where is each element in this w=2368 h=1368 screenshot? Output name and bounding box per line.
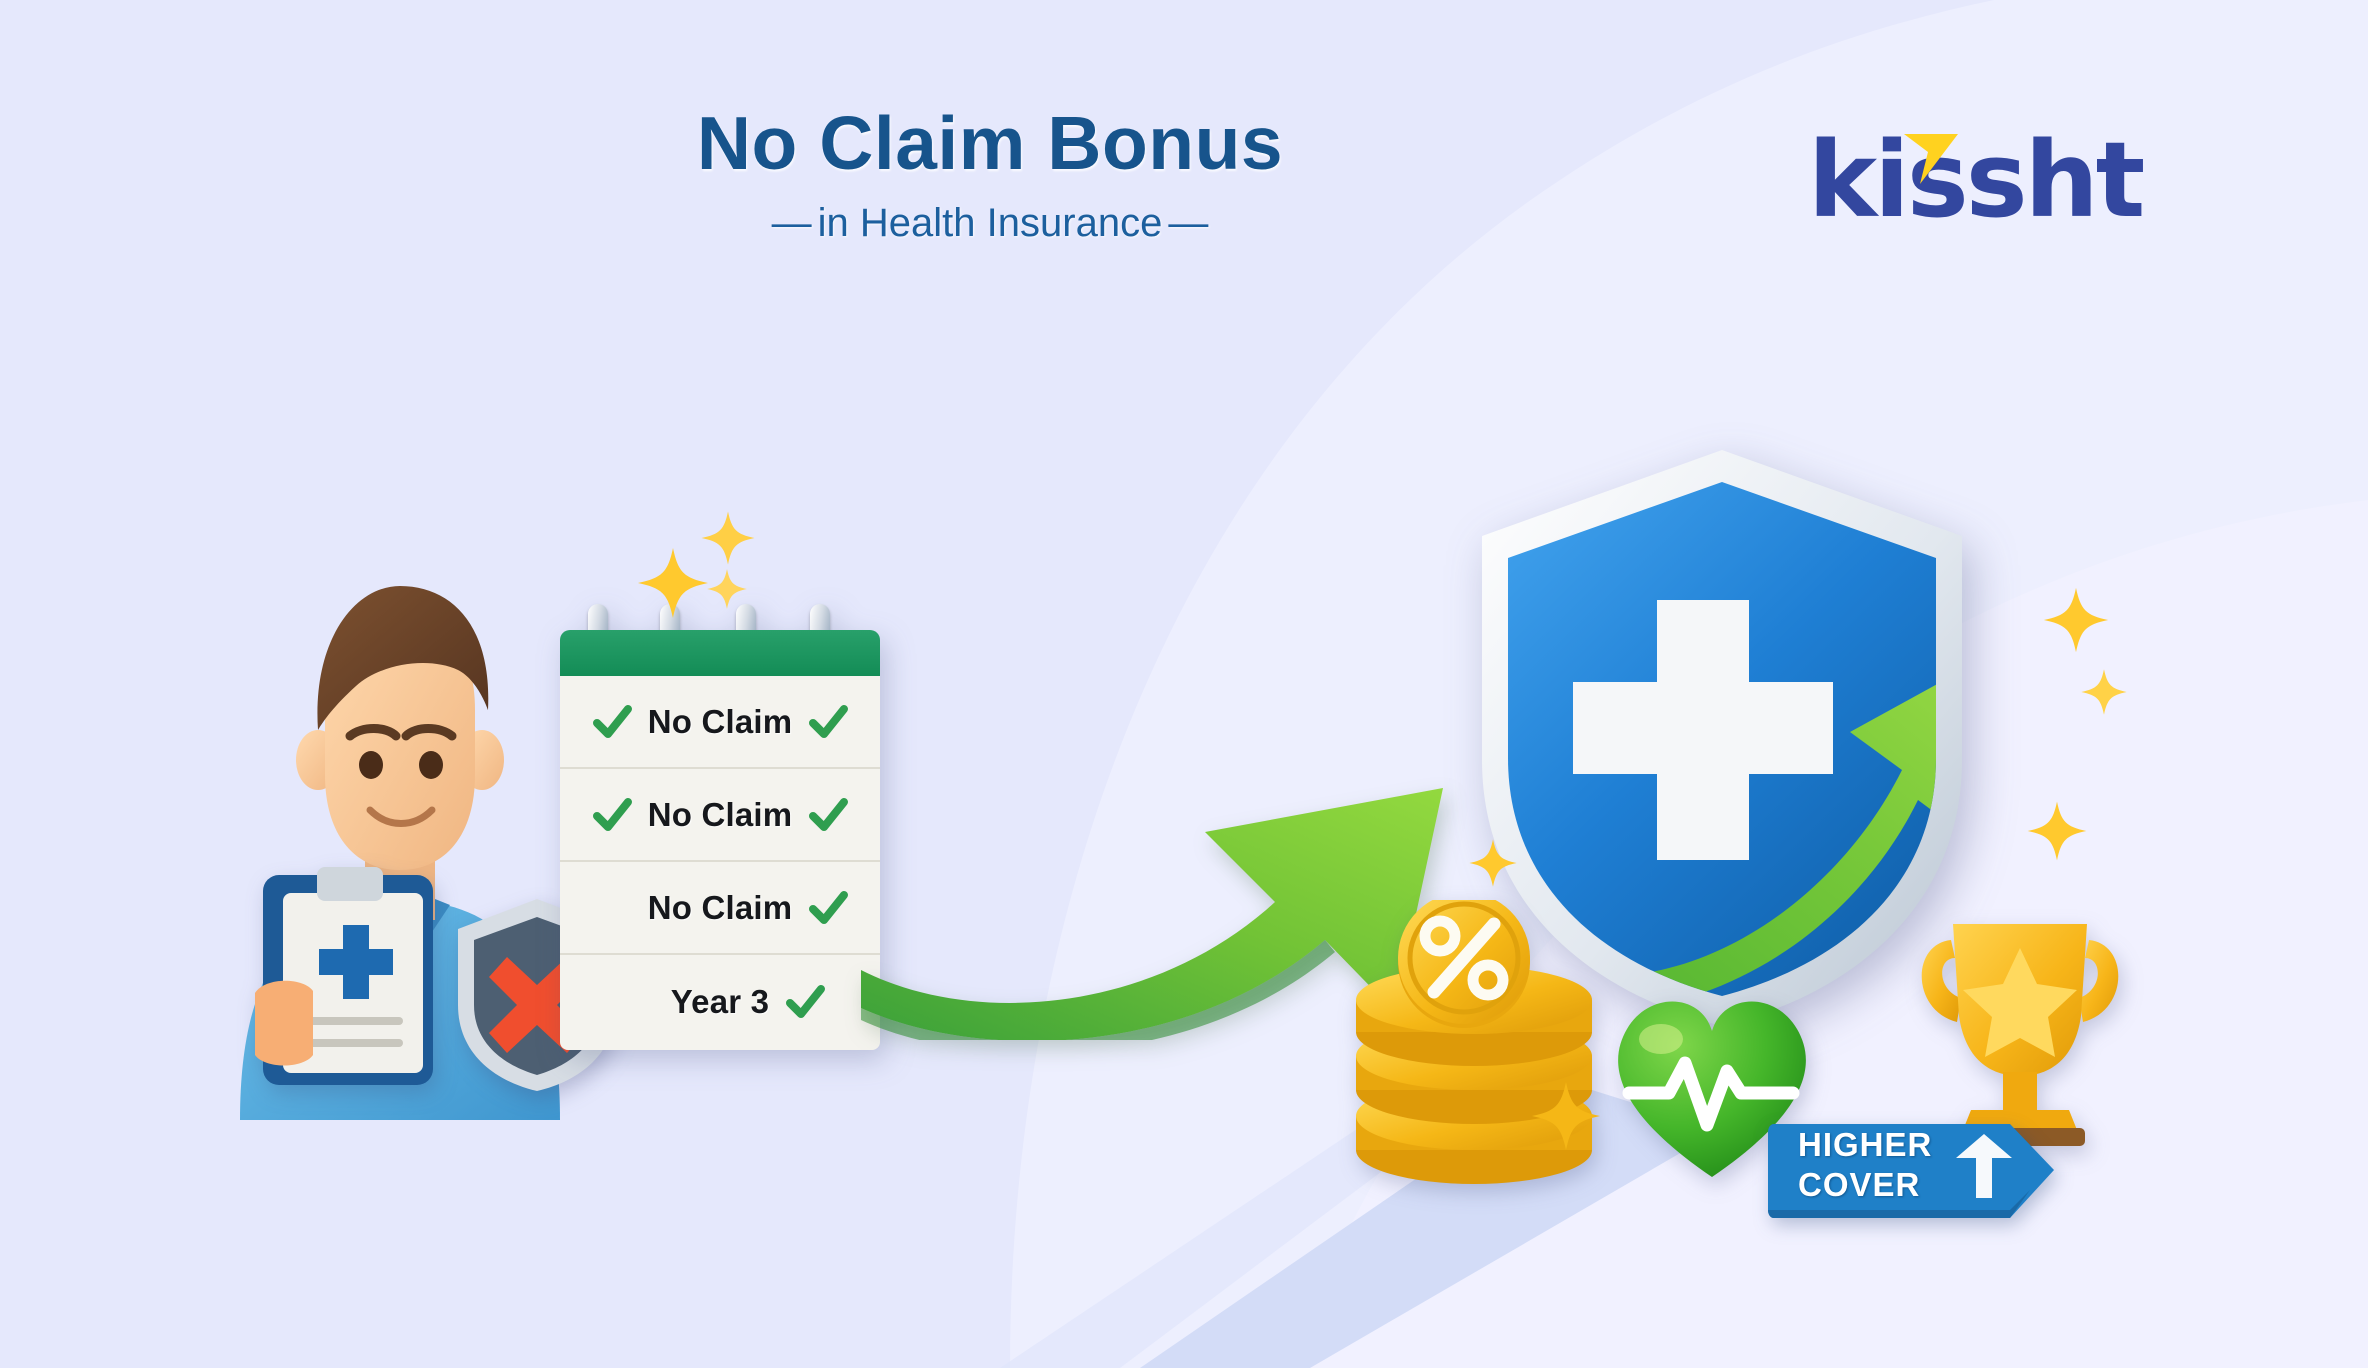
- badge-line-2: COVER: [1798, 1166, 1920, 1204]
- logo-svg: kissht: [1808, 128, 2188, 238]
- page-subtitle: —in Health Insurance—: [540, 201, 1440, 246]
- sparkle-star-icon: [2026, 800, 2088, 862]
- percent-coin: [1398, 900, 1530, 1028]
- heart-highlight: [1639, 1024, 1683, 1054]
- sparkle-star-icon: [2042, 586, 2110, 654]
- calendar-row: No Claim: [560, 862, 880, 955]
- check-mark-icon: [806, 793, 850, 837]
- person-hand: [255, 981, 313, 1066]
- clipboard-line-2: [305, 1039, 403, 1047]
- calendar-header: [560, 630, 880, 676]
- header-block: No Claim Bonus —in Health Insurance—: [540, 106, 1440, 246]
- calendar-body: No Claim No Claim No Claim: [560, 676, 880, 1050]
- check-mark-icon: [806, 700, 850, 744]
- sparkle-star-icon: [636, 546, 710, 620]
- logo-wordmark: kissht: [1808, 128, 2144, 238]
- no-claim-calendar: No Claim No Claim No Claim: [560, 630, 880, 1050]
- sparkle-star-icon: [1468, 838, 1518, 888]
- calendar-row-label: No Claim: [648, 889, 793, 927]
- brand-logo[interactable]: kissht: [1808, 128, 2188, 228]
- trophy-stem: [2003, 1072, 2037, 1110]
- clipboard-line-1: [305, 1017, 403, 1025]
- calendar-row-label: No Claim: [648, 796, 793, 834]
- calendar-row: Year 3: [560, 955, 880, 1048]
- check-mark-icon: [783, 980, 827, 1024]
- check-mark-icon: [806, 886, 850, 930]
- subtitle-dash-left: —: [766, 201, 818, 246]
- medical-clipboard-icon: [255, 865, 455, 1095]
- subtitle-text: in Health Insurance: [818, 201, 1163, 245]
- sparkle-star-icon: [706, 568, 748, 610]
- clipboard-clip: [317, 867, 383, 901]
- check-mark-icon: [590, 793, 634, 837]
- calendar-row-label: No Claim: [648, 703, 793, 741]
- sparkle-star-icon: [700, 510, 756, 566]
- sparkle-star-icon: [2080, 668, 2128, 716]
- coin-stack-icon: [1352, 900, 1612, 1200]
- check-mark-icon: [590, 700, 634, 744]
- infographic-canvas: No Claim Bonus —in Health Insurance— kis…: [0, 0, 2368, 1368]
- badge-line-1: HIGHER: [1798, 1126, 1932, 1164]
- calendar-row: No Claim: [560, 676, 880, 769]
- person-eye-left: [359, 751, 383, 779]
- higher-cover-badge[interactable]: HIGHER COVER: [1768, 1110, 2058, 1230]
- sparkle-star-icon: [1530, 1080, 1602, 1152]
- calendar-row-label: Year 3: [671, 983, 769, 1021]
- person-eye-right: [419, 751, 443, 779]
- calendar-row: No Claim: [560, 769, 880, 862]
- page-title: No Claim Bonus: [540, 106, 1440, 181]
- subtitle-dash-right: —: [1162, 201, 1214, 246]
